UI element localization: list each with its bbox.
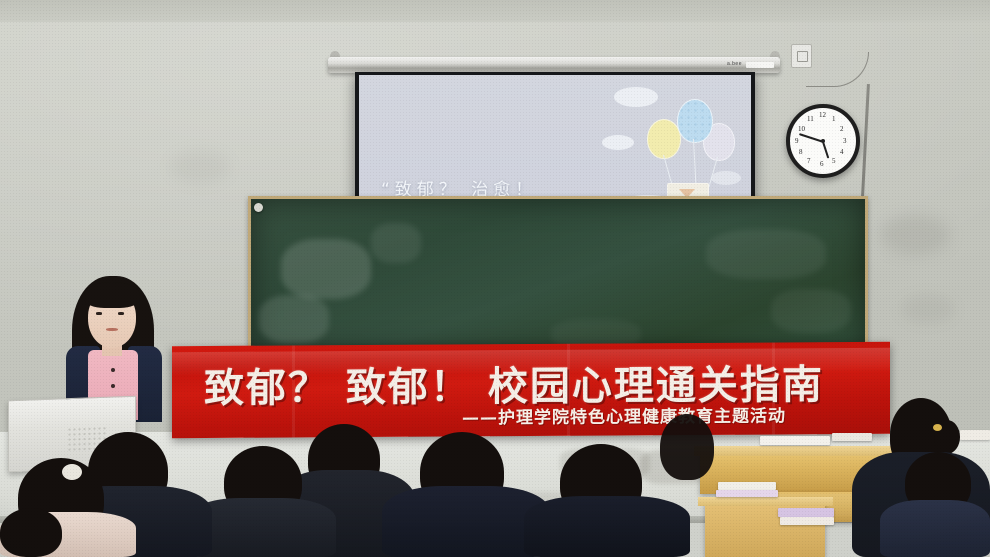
clock-numeral: 1 xyxy=(832,115,836,123)
balloon-yellow-icon xyxy=(647,119,681,159)
chalk-smudge xyxy=(771,289,851,333)
chalk-smudge xyxy=(371,223,421,263)
clock-numeral: 2 xyxy=(840,125,844,133)
presenter-mouth xyxy=(106,328,118,331)
wall-smudge xyxy=(900,295,955,323)
presenter-eye xyxy=(96,312,102,315)
wall-smudge xyxy=(170,150,230,184)
chalk-smudge xyxy=(706,229,826,279)
roller-brand-label: a.bee xyxy=(727,61,742,67)
roller-strip xyxy=(746,62,774,68)
clock-numeral: 8 xyxy=(799,148,803,156)
balloon-blue-icon xyxy=(677,99,713,143)
banner-subtitle: ——护理学院特色心理健康教育主题活动 xyxy=(462,401,786,428)
clock-center-pin xyxy=(821,139,825,143)
student-body xyxy=(880,500,990,557)
presenter-fringe xyxy=(84,282,140,308)
shirt-button xyxy=(111,384,115,388)
wall-smudge xyxy=(880,215,950,255)
clock-numeral: 12 xyxy=(819,111,826,119)
desk-surface xyxy=(694,446,894,456)
book xyxy=(832,433,872,441)
presenter-eye xyxy=(118,312,124,315)
shirt-button xyxy=(111,368,115,372)
hair-tie xyxy=(933,424,942,431)
book xyxy=(780,517,834,525)
wall-clock: 12 1 2 3 4 5 6 7 8 9 10 11 xyxy=(786,104,860,178)
clock-numeral: 9 xyxy=(795,137,799,145)
clock-hour-hand xyxy=(822,142,829,159)
book xyxy=(760,436,830,445)
clock-numeral: 3 xyxy=(843,137,847,145)
clock-numeral: 6 xyxy=(820,160,824,168)
student-head xyxy=(660,414,714,480)
clock-minute-hand xyxy=(799,133,823,142)
chalk-smudge xyxy=(281,239,371,299)
book xyxy=(716,490,778,497)
book xyxy=(778,508,834,517)
book xyxy=(718,482,776,490)
cloud-icon xyxy=(602,135,634,150)
clock-numeral: 5 xyxy=(832,157,836,165)
student-body xyxy=(524,496,690,557)
projector-screen-roller[interactable]: a.bee xyxy=(328,57,780,73)
clock-numeral: 7 xyxy=(807,157,811,165)
green-chalkboard xyxy=(248,196,868,356)
clock-numeral: 11 xyxy=(807,115,814,123)
chalk-smudge xyxy=(259,295,329,343)
ceiling-edge xyxy=(0,0,990,22)
clock-numeral: 10 xyxy=(798,125,805,133)
desk-surface xyxy=(698,497,833,506)
student-head xyxy=(0,508,62,557)
event-banner: 致郁？ 致郁！ 校园心理通关指南 ——护理学院特色心理健康教育主题活动 xyxy=(172,342,890,438)
classroom-photo: a.bee xyxy=(0,0,990,557)
balloon-string xyxy=(708,157,718,188)
book xyxy=(960,430,990,440)
hair-scrunchie xyxy=(62,464,82,480)
clock-numeral: 4 xyxy=(840,148,844,156)
balloon-string xyxy=(663,155,673,186)
balloon-string xyxy=(693,139,697,187)
chalkboard-clip xyxy=(254,203,263,212)
